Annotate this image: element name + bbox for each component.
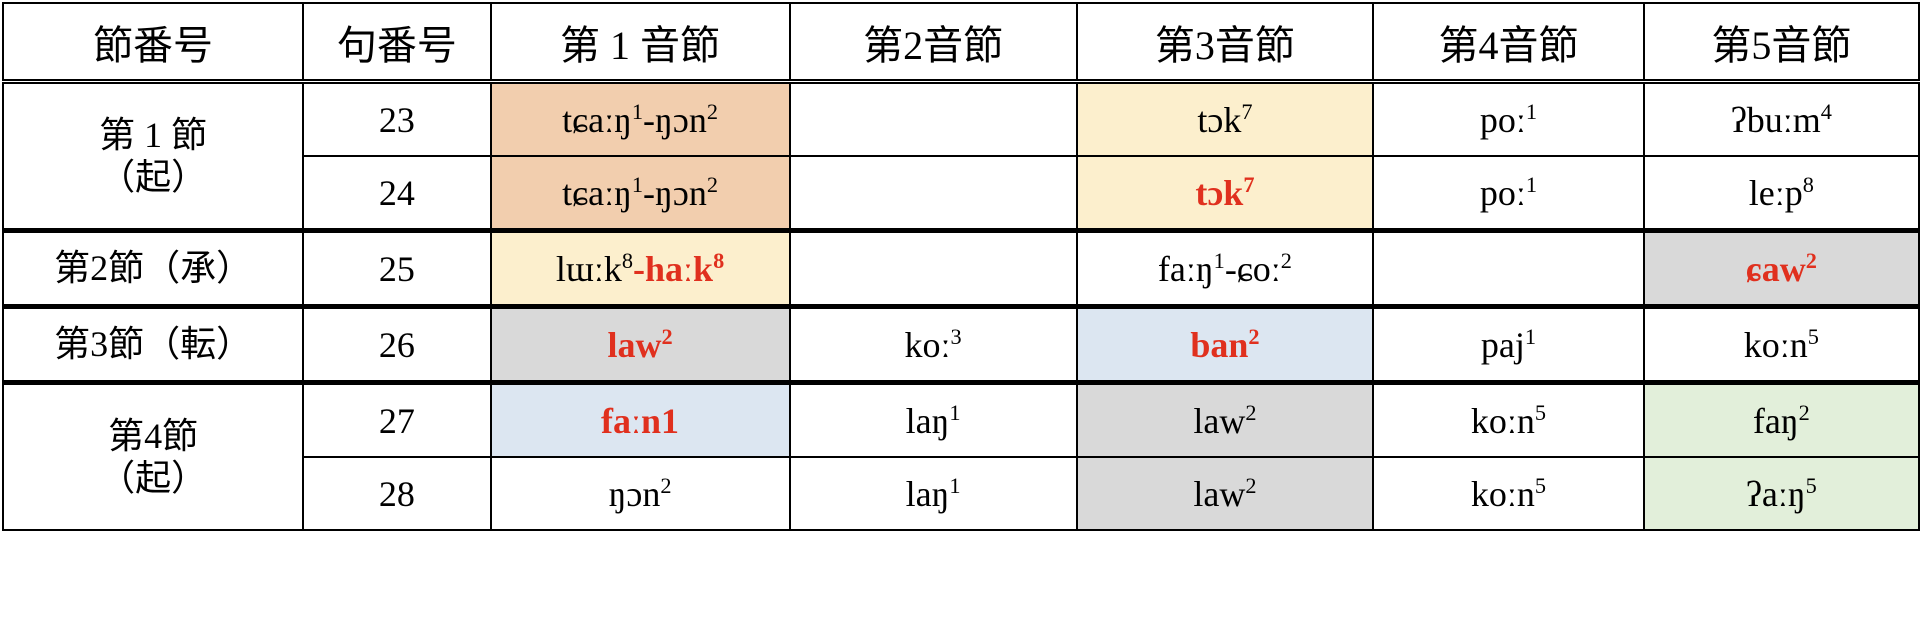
line-number-cell: 24 [303,156,490,231]
column-header-line-number: 句番号 [303,3,490,82]
header-row: 節番号 句番号 第 1 音節 第2音節 第3音節 第4音節 第5音節 [3,3,1919,82]
syllable-token: tɔk7 [1197,99,1252,141]
syllable-token: koːn5 [1471,400,1546,442]
tone-number: 7 [1243,172,1254,197]
syllable-cell-5: ɕaw2 [1644,231,1919,307]
syllable-cell-5: koːn5 [1644,307,1919,383]
syllable-cell-4: koːn5 [1373,383,1643,458]
syllable-cell-3: law2 [1077,457,1374,530]
table-body: 第 1 節（起）23tɕaːŋ1-ŋɔn2tɔk7poː1ʔbuːm424tɕa… [3,82,1919,531]
syllable-token: paj1 [1481,324,1536,366]
syllable-token: law2 [607,324,672,366]
syllable-cell-4: paj1 [1373,307,1643,383]
tone-number: 1 [1525,324,1536,349]
stanza-label-line2: （起） [4,457,302,499]
tone-number: 2 [707,99,718,124]
syllable-token: law2 [1193,400,1256,442]
tone-number: 1 [1526,99,1537,124]
line-number-cell: 28 [303,457,490,530]
syllable-cell-1: law2 [491,307,790,383]
syllable-token: tɕaːŋ1 [562,172,643,214]
table-header: 節番号 句番号 第 1 音節 第2音節 第3音節 第4音節 第5音節 [3,3,1919,82]
syllable-token: poː1 [1480,99,1537,141]
syllable-cell-3: faːŋ1-ɕoː2 [1077,231,1374,307]
tone-number: 4 [1821,99,1832,124]
tone-number: 5 [1806,473,1817,498]
tone-number: 2 [661,324,672,349]
syllable-token: ɕaw2 [1746,248,1817,290]
syllable-cell-1: ŋɔn2 [491,457,790,530]
syllable-cell-2: koː3 [790,307,1077,383]
syllable-token: koː3 [904,324,961,366]
table-row: 第4節（起）27faːn1laŋ1law2koːn5faŋ2 [3,383,1919,458]
syllable-token: laŋ1 [906,473,961,515]
syllable-cell-4 [1373,231,1643,307]
syllable-token: lɯːk8 [556,248,633,290]
tone-number: 5 [1808,324,1819,349]
syllable-cell-3: ban2 [1077,307,1374,383]
syllable-token: tɔk7 [1195,172,1254,214]
column-header-syllable-4: 第4音節 [1373,3,1643,82]
syllable-cell-3: tɔk7 [1077,156,1374,231]
tone-number: 1 [1526,172,1537,197]
column-header-syllable-5: 第5音節 [1644,3,1919,82]
syllable-token: law2 [1193,473,1256,515]
syllable-cell-5: ʔbuːm4 [1644,82,1919,157]
table-row: 第 1 節（起）23tɕaːŋ1-ŋɔn2tɔk7poː1ʔbuːm4 [3,82,1919,157]
stanza-label-cell: 第 1 節（起） [3,82,303,231]
line-number-cell: 25 [303,231,490,307]
syllable-cell-2 [790,231,1077,307]
syllable-cell-5: ʔaːŋ5 [1644,457,1919,530]
tone-number: 1 [949,473,960,498]
syllable-cell-3: law2 [1077,383,1374,458]
syllable-cell-2 [790,156,1077,231]
syllable-token-2: -ŋɔn2 [643,172,718,214]
tone-number: 3 [951,324,962,349]
syllable-cell-5: faŋ2 [1644,383,1919,458]
syllable-table: 節番号 句番号 第 1 音節 第2音節 第3音節 第4音節 第5音節 第 1 節… [2,2,1920,531]
stanza-label-cell: 第3節（転） [3,307,303,383]
stanza-label-line2: （起） [4,156,302,198]
syllable-token: faːn1 [601,400,679,442]
tone-number: 1 [632,99,643,124]
tone-number: 2 [1248,324,1259,349]
tone-number: 2 [1245,473,1256,498]
syllable-token-2: -ɕoː2 [1225,248,1292,290]
tone-number: 5 [1535,400,1546,425]
syllable-token: leːp8 [1749,172,1814,214]
line-number-cell: 23 [303,82,490,157]
table-figure: 節番号 句番号 第 1 音節 第2音節 第3音節 第4音節 第5音節 第 1 節… [0,2,1920,634]
stanza-label-line1: 第 1 節 [4,114,302,156]
syllable-cell-1: tɕaːŋ1-ŋɔn2 [491,156,790,231]
syllable-cell-2 [790,82,1077,157]
syllable-cell-5: leːp8 [1644,156,1919,231]
line-number-cell: 27 [303,383,490,458]
line-number-cell: 26 [303,307,490,383]
tone-number: 5 [1535,473,1546,498]
tone-number: 1 [632,172,643,197]
syllable-cell-1: tɕaːŋ1-ŋɔn2 [491,82,790,157]
stanza-label-line1: 第4節 [4,415,302,457]
syllable-token: tɕaːŋ1 [562,99,643,141]
stanza-label-line1: 第3節（転） [4,323,302,365]
syllable-token: laŋ1 [906,400,961,442]
tone-number: 2 [1806,248,1817,273]
column-header-syllable-2: 第2音節 [790,3,1077,82]
tone-number: 8 [713,248,724,273]
tone-number: 2 [1245,400,1256,425]
stanza-label-cell: 第2節（承） [3,231,303,307]
tone-number: 8 [622,248,633,273]
syllable-cell-3: tɔk7 [1077,82,1374,157]
syllable-token: poː1 [1480,172,1537,214]
syllable-token: ŋɔn2 [609,473,672,515]
tone-number: 1 [1214,248,1225,273]
syllable-token-2: -ŋɔn2 [643,99,718,141]
tone-number: 1 [949,400,960,425]
tone-number: 2 [707,172,718,197]
table-row: 第3節（転）26law2koː3ban2paj1koːn5 [3,307,1919,383]
syllable-cell-4: poː1 [1373,82,1643,157]
syllable-token: koːn5 [1471,473,1546,515]
syllable-token: ban2 [1190,324,1259,366]
stanza-label-line1: 第2節（承） [4,247,302,289]
syllable-token: faŋ2 [1753,400,1810,442]
stanza-label-cell: 第4節（起） [3,383,303,531]
syllable-cell-4: poː1 [1373,156,1643,231]
syllable-token-2: -haːk8 [633,248,724,290]
table-row: 第2節（承）25lɯːk8 -haːk8faːŋ1-ɕoː2ɕaw2 [3,231,1919,307]
tone-number: 7 [1241,99,1252,124]
syllable-cell-1: lɯːk8 -haːk8 [491,231,790,307]
syllable-token: ʔaːŋ5 [1746,473,1817,515]
tone-number: 2 [1281,248,1292,273]
column-header-syllable-3: 第3音節 [1077,3,1374,82]
syllable-cell-4: koːn5 [1373,457,1643,530]
syllable-token: ʔbuːm4 [1731,99,1832,141]
syllable-cell-2: laŋ1 [790,383,1077,458]
syllable-cell-1: faːn1 [491,383,790,458]
column-header-syllable-1: 第 1 音節 [491,3,790,82]
tone-number: 2 [660,473,671,498]
tone-number: 2 [1799,400,1810,425]
tone-number: 8 [1803,172,1814,197]
syllable-token: faːŋ1 [1158,248,1225,290]
syllable-cell-2: laŋ1 [790,457,1077,530]
syllable-token: koːn5 [1744,324,1819,366]
column-header-stanza-number: 節番号 [3,3,303,82]
